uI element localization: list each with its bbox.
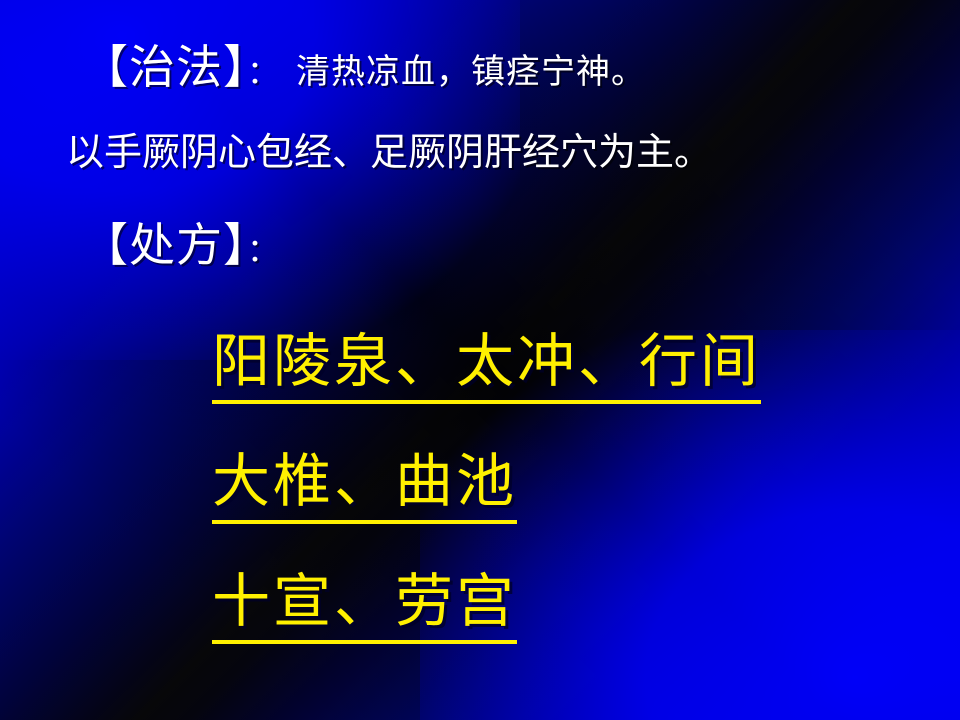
heading-treatment-detail: 清热凉血，镇痉宁神。 — [296, 52, 646, 92]
heading-treatment-colon: ： — [247, 53, 280, 91]
prescription-points-2: 大椎、曲池 — [212, 452, 517, 524]
heading-treatment-line: 【治法】：清热凉血，镇痉宁神。 — [82, 44, 646, 90]
prescription-line-1: 阳陵泉、太冲、行间 — [212, 332, 761, 404]
heading-prescription-colon: ： — [247, 231, 280, 269]
heading-treatment-label: 【治法】 — [82, 40, 247, 94]
prescription-line-2: 大椎、曲池 — [212, 452, 517, 524]
prescription-points-3: 十宣、劳宫 — [212, 572, 517, 644]
heading-prescription-label: 【处方】 — [82, 218, 247, 272]
slide-canvas: 【治法】：清热凉血，镇痉宁神。 以手厥阴心包经、足厥阴肝经穴为主。 【处方】： … — [0, 0, 960, 720]
prescription-line-3: 十宣、劳宫 — [212, 572, 517, 644]
heading-prescription-line: 【处方】： — [82, 222, 280, 268]
prescription-points-1: 阳陵泉、太冲、行间 — [212, 332, 761, 404]
meridian-note-line: 以手厥阴心包经、足厥阴肝经穴为主。 — [66, 133, 712, 171]
slide-content: 【治法】：清热凉血，镇痉宁神。 以手厥阴心包经、足厥阴肝经穴为主。 【处方】： … — [0, 0, 960, 720]
